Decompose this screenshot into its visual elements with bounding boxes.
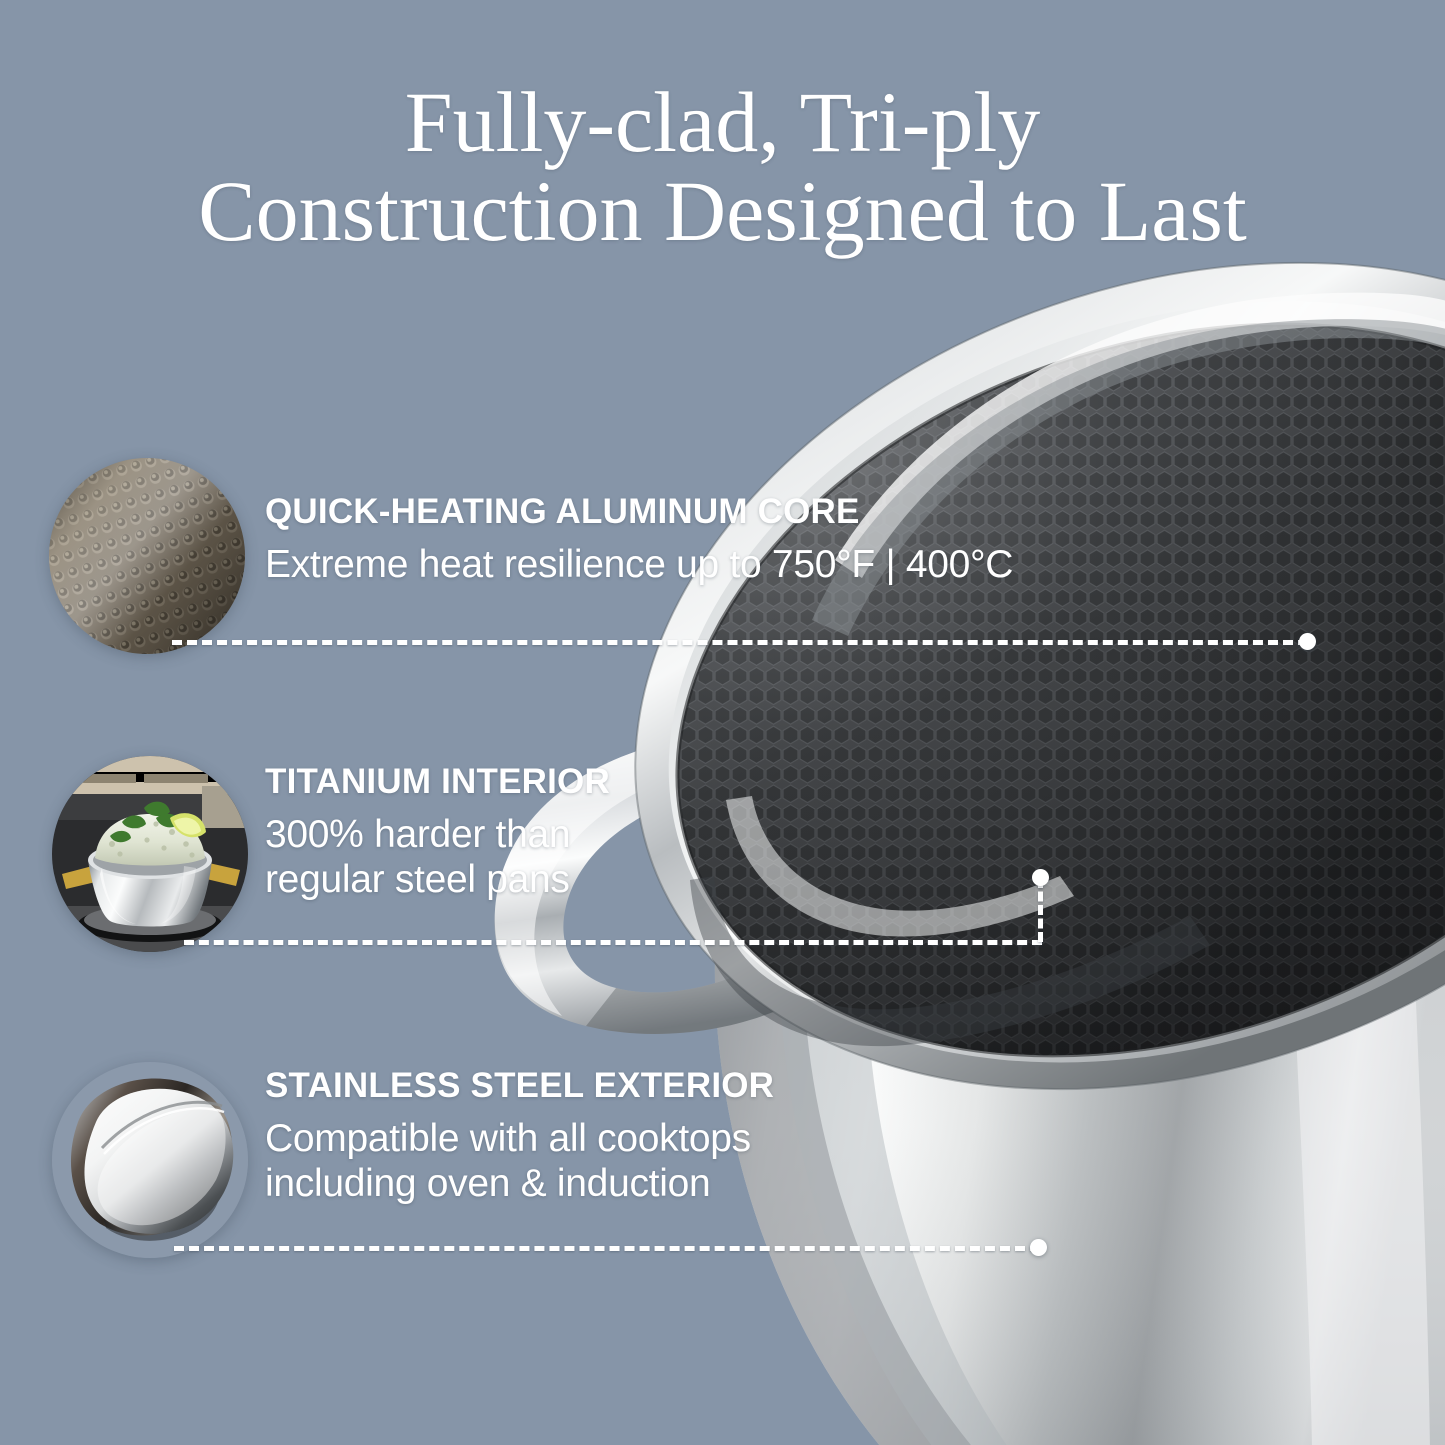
leader-dash-horizontal — [174, 1246, 1040, 1251]
leader-endpoint-dot — [1032, 869, 1049, 886]
feature-desc-line-1: 300% harder than — [265, 812, 610, 857]
leader-dash-horizontal — [184, 940, 1042, 945]
leader-dash-vertical — [1038, 878, 1043, 942]
leader-endpoint-dot — [1030, 1239, 1047, 1256]
feature-description: Extreme heat resilience up to 750°F | 40… — [265, 542, 1013, 587]
feature-desc-line-2: regular steel pans — [265, 857, 610, 902]
leader-endpoint-dot — [1299, 633, 1316, 650]
feature-description: Compatible with all cooktops including o… — [265, 1116, 774, 1206]
feature-text-titanium-interior: TITANIUM INTERIOR 300% harder than regul… — [265, 764, 610, 902]
thumbnail-pot-with-rice-on-stove — [52, 756, 248, 952]
feature-text-stainless-exterior: STAINLESS STEEL EXTERIOR Compatible with… — [265, 1068, 774, 1206]
feature-description: 300% harder than regular steel pans — [265, 812, 610, 902]
feature-title: TITANIUM INTERIOR — [265, 764, 610, 799]
feature-desc-line-1: Compatible with all cooktops — [265, 1116, 774, 1161]
thumbnail-honeycomb-metal-texture — [49, 458, 245, 654]
feature-title: QUICK-HEATING ALUMINUM CORE — [265, 494, 1013, 529]
infographic-canvas: Fully-clad, Tri-ply Construction Designe… — [0, 0, 1445, 1445]
page-title: Fully-clad, Tri-ply Construction Designe… — [0, 78, 1445, 257]
feature-desc-line-2: including oven & induction — [265, 1161, 774, 1206]
feature-text-aluminum-core: QUICK-HEATING ALUMINUM CORE Extreme heat… — [265, 494, 1013, 587]
leader-dash-horizontal — [172, 640, 1308, 645]
feature-title: STAINLESS STEEL EXTERIOR — [265, 1068, 774, 1103]
thumbnail-polished-pot-base — [52, 1062, 248, 1258]
headline-line-2: Construction Designed to Last — [0, 167, 1445, 256]
feature-desc-line-1: Extreme heat resilience up to 750°F | 40… — [265, 542, 1013, 587]
headline-line-1: Fully-clad, Tri-ply — [0, 78, 1445, 167]
